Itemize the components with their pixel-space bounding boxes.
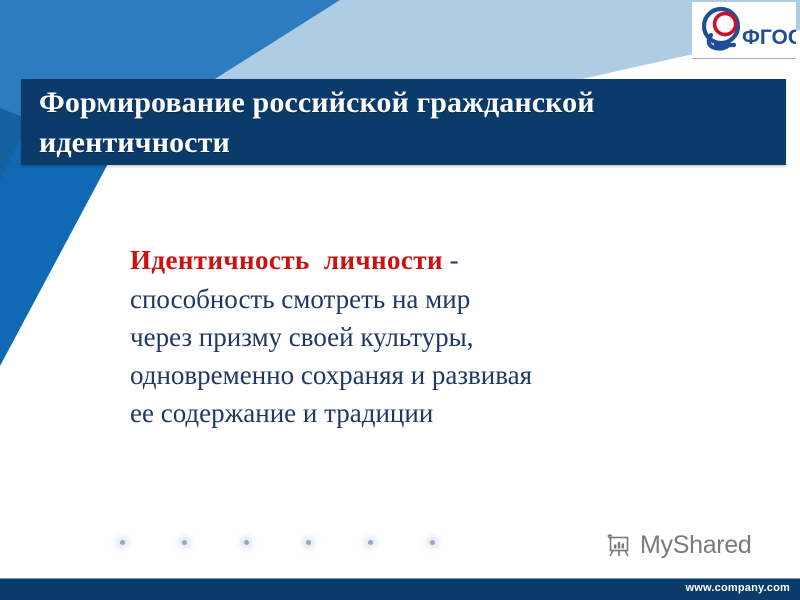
- myshared-watermark: MyShared: [604, 530, 752, 560]
- body-line-lead: Идентичность личности -: [130, 240, 730, 280]
- lead-dash: -: [443, 245, 459, 275]
- myshared-label: MyShared: [640, 531, 752, 560]
- body-line: ее содержание и традиции: [130, 394, 730, 432]
- decorative-dot: [182, 540, 187, 545]
- body-line: способность смотреть на мир: [130, 280, 730, 318]
- light-blue-wedge-lower: [0, 0, 430, 84]
- presentation-board-icon: [604, 530, 634, 560]
- footer-bar: www.company.com: [0, 578, 800, 600]
- light-blue-wedge: [0, 0, 800, 84]
- fgos-logo: ФГОС: [692, 2, 796, 59]
- body-line: через призму своей культуры,: [130, 318, 730, 356]
- decorative-dots-row: [120, 534, 660, 550]
- fgos-wordmark: ФГОС: [742, 26, 796, 49]
- page-title: Формирование российской гражданской иден…: [39, 83, 770, 162]
- slide-title-bar: Формирование российской гражданской иден…: [21, 79, 786, 165]
- slide-canvas: ФГОС Формирование российской гражданской…: [0, 0, 800, 600]
- body-line: одновременно сохраняя и развивая: [130, 356, 730, 394]
- fgos-logo-mark: ФГОС: [692, 2, 796, 58]
- decorative-dot: [430, 540, 435, 545]
- lead-term: Идентичность личности: [130, 245, 443, 275]
- decorative-dot: [244, 540, 249, 545]
- footer-url: www.company.com: [686, 582, 790, 594]
- decorative-dot: [368, 540, 373, 545]
- slide-body: Идентичность личности - способность смот…: [130, 240, 730, 432]
- decorative-dot: [306, 540, 311, 545]
- decorative-dot: [120, 540, 125, 545]
